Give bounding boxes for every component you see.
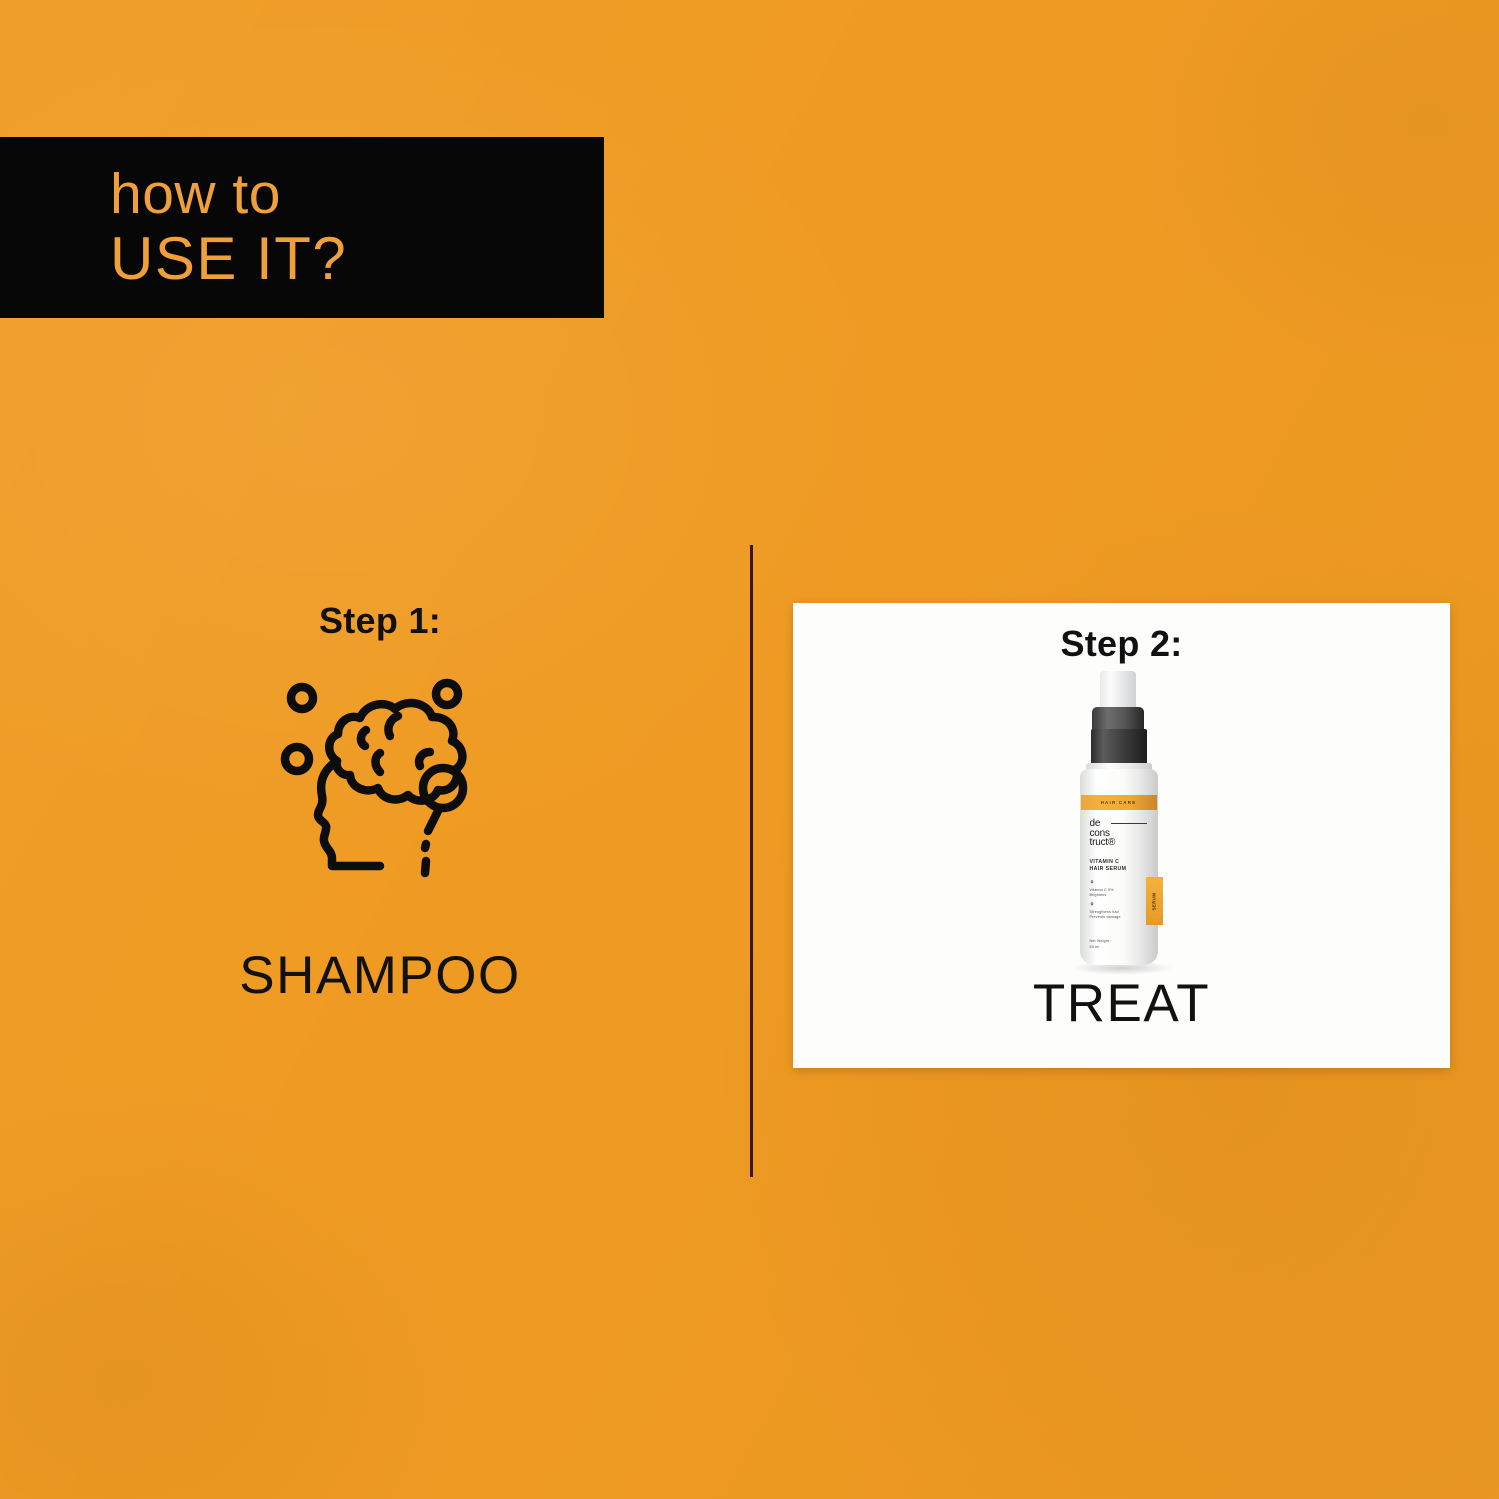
net-volume-value: 50 ml (1090, 945, 1100, 949)
poster-canvas: how to USE IT? Step 1: (0, 0, 1499, 1499)
step-2-card: Step 2: HAIR CARE de cons truct® VITAMIN… (793, 603, 1450, 1068)
head-shampoo-lather-icon (130, 676, 630, 901)
brand-registered-mark: ® (1108, 837, 1115, 848)
bottle-pump-collar (1091, 729, 1147, 767)
bottle-label-band: HAIR CARE (1081, 795, 1157, 810)
brand-underline-rule (1111, 823, 1147, 824)
page-title-line2: USE IT? (110, 227, 604, 290)
step-1-group: Step 1: (130, 600, 630, 1006)
product-name-line-2: HAIR SERUM (1090, 866, 1127, 872)
bottle-product-name: VITAMIN C HAIR SERUM (1090, 859, 1127, 873)
ingredient-text-1: Vitamin C 5% (1090, 888, 1114, 892)
bottle-side-tag: SERUM (1146, 877, 1163, 925)
brand-line-3: truct (1090, 837, 1108, 848)
ingredient-mark-icon: ⚘ (1090, 903, 1121, 909)
foam-swirl-icon (361, 730, 366, 746)
ingredient-mark-icon: ⚘ (1090, 881, 1121, 887)
bubble-icon (436, 683, 458, 705)
drip-icon (425, 861, 426, 873)
bubble-icon (291, 687, 313, 709)
foam-swirl-icon (419, 752, 430, 766)
bottle-ingredient-list: ⚘ Vitamin C 5% Brightens ⚘ Strengthens h… (1090, 881, 1121, 926)
serum-bottle-photo: HAIR CARE de cons truct® VITAMIN C HAIR … (1062, 671, 1182, 971)
ingredient-row: ⚘ Strengthens hair Prevents damage (1090, 903, 1121, 920)
product-name-line-1: VITAMIN C (1090, 859, 1120, 865)
net-volume-label: Net Weight : (1090, 939, 1112, 943)
step-2-caption: TREAT (1033, 973, 1210, 1034)
foam-swirl-icon (388, 716, 398, 736)
bottle-band-text: HAIR CARE (1101, 800, 1137, 805)
step-1-caption: SHAMPOO (130, 945, 630, 1006)
bottle-net-volume: Net Weight : 50 ml (1090, 939, 1112, 950)
vertical-divider (750, 545, 753, 1177)
ingredient-text-2: Prevents damage (1090, 915, 1121, 919)
step-1-label: Step 1: (130, 600, 630, 642)
page-title-block: how to USE IT? (0, 137, 604, 318)
step-2-label: Step 2: (1060, 623, 1182, 665)
drip-dot-icon (425, 844, 426, 848)
bottle-side-tag-text: SERUM (1152, 892, 1157, 910)
head-shampoo-lather-icon-svg (280, 676, 480, 901)
ingredient-text-2: Brightens (1090, 893, 1107, 897)
foam-swirl-icon (376, 753, 381, 772)
ingredient-row: ⚘ Vitamin C 5% Brightens (1090, 881, 1121, 898)
ingredient-text-1: Strengthens hair (1090, 910, 1120, 914)
bubble-icon (285, 747, 309, 771)
drip-icon (428, 811, 438, 831)
page-title-line1: how to (110, 165, 604, 224)
